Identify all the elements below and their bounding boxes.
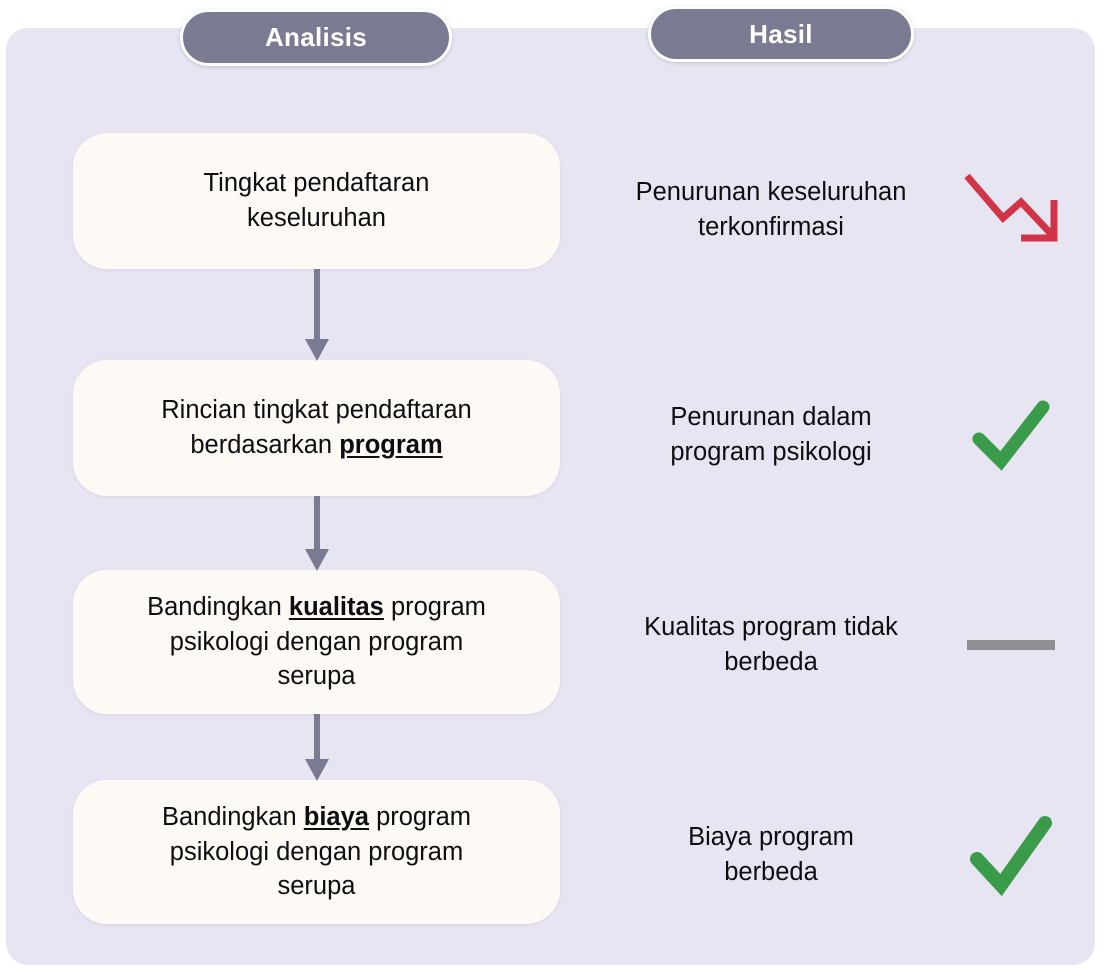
result-4-icon-wrap	[946, 811, 1076, 899]
result-4-text: Biaya program berbeda	[596, 820, 946, 889]
result-4-line1: Biaya program	[688, 823, 854, 851]
analysis-step-1-line2: keseluruhan	[247, 204, 386, 232]
result-row-1: Penurunan keseluruhan terkonfirmasi	[596, 155, 1076, 265]
analysis-step-3-line2: psikologi dengan program	[170, 628, 463, 656]
analysis-step-box-3: Bandingkan kualitas program psikologi de…	[73, 570, 560, 714]
result-2-text: Penurunan dalam program psikologi	[596, 400, 946, 469]
analysis-step-1-text: Tingkat pendaftaran keseluruhan	[204, 166, 430, 235]
arrow-down-icon	[296, 714, 338, 781]
analysis-step-1-line1: Tingkat pendaftaran	[204, 169, 430, 197]
green-checkmark-icon	[963, 395, 1059, 475]
analysis-step-4-text: Bandingkan biaya program psikologi denga…	[162, 800, 471, 904]
analysis-step-3-line1-prefix: Bandingkan	[147, 593, 289, 621]
analysis-step-box-1: Tingkat pendaftaran keseluruhan	[73, 133, 560, 269]
result-4-line2: berbeda	[724, 858, 818, 886]
result-2-line2: program psikologi	[670, 438, 871, 466]
analysis-step-3-line1-suffix: program	[384, 593, 486, 621]
result-row-3: Kualitas program tidak berbeda	[596, 590, 1076, 700]
connector-arrow-2	[296, 496, 338, 571]
analysis-step-3-emphasis: kualitas	[289, 593, 384, 621]
arrow-down-icon	[296, 269, 338, 361]
column-header-hasil: Hasil	[648, 6, 914, 62]
connector-arrow-3	[296, 714, 338, 781]
result-1-line1: Penurunan keseluruhan	[636, 178, 907, 206]
column-header-analisis: Analisis	[180, 9, 452, 66]
analysis-step-2-emphasis: program	[339, 431, 442, 459]
analysis-step-4-line2: psikologi dengan program	[170, 838, 463, 866]
analysis-step-4-line1-suffix: program	[369, 803, 471, 831]
analysis-step-3-line3: serupa	[278, 662, 356, 690]
green-checkmark-icon	[963, 811, 1059, 899]
result-2-line1: Penurunan dalam	[670, 403, 871, 431]
analysis-step-2-text: Rincian tingkat pendaftaran berdasarkan …	[161, 393, 471, 462]
result-3-line2: berbeda	[724, 648, 818, 676]
analysis-step-4-emphasis: biaya	[304, 803, 369, 831]
result-3-text: Kualitas program tidak berbeda	[596, 610, 946, 679]
arrow-down-icon	[296, 496, 338, 571]
result-1-line2: terkonfirmasi	[698, 213, 844, 241]
analysis-step-4-line3: serupa	[278, 872, 356, 900]
analysis-step-2-line2-prefix: berdasarkan	[190, 431, 339, 459]
connector-arrow-1	[296, 269, 338, 361]
result-1-icon-wrap	[946, 166, 1076, 254]
downward-trend-arrow-icon	[959, 166, 1063, 254]
result-2-icon-wrap	[946, 395, 1076, 475]
analysis-step-box-2: Rincian tingkat pendaftaran berdasarkan …	[73, 360, 560, 496]
analysis-step-2-line1: Rincian tingkat pendaftaran	[161, 396, 471, 424]
result-row-4: Biaya program berbeda	[596, 800, 1076, 910]
result-3-line1: Kualitas program tidak	[644, 613, 898, 641]
analysis-step-4-line1-prefix: Bandingkan	[162, 803, 304, 831]
analysis-step-3-text: Bandingkan kualitas program psikologi de…	[147, 590, 486, 694]
result-row-2: Penurunan dalam program psikologi	[596, 380, 1076, 490]
column-header-hasil-label: Hasil	[749, 19, 813, 50]
result-3-icon-wrap	[946, 630, 1076, 660]
analysis-step-box-4: Bandingkan biaya program psikologi denga…	[73, 780, 560, 924]
gray-dash-icon	[963, 630, 1059, 660]
result-1-text: Penurunan keseluruhan terkonfirmasi	[596, 175, 946, 244]
column-header-analisis-label: Analisis	[265, 22, 367, 53]
